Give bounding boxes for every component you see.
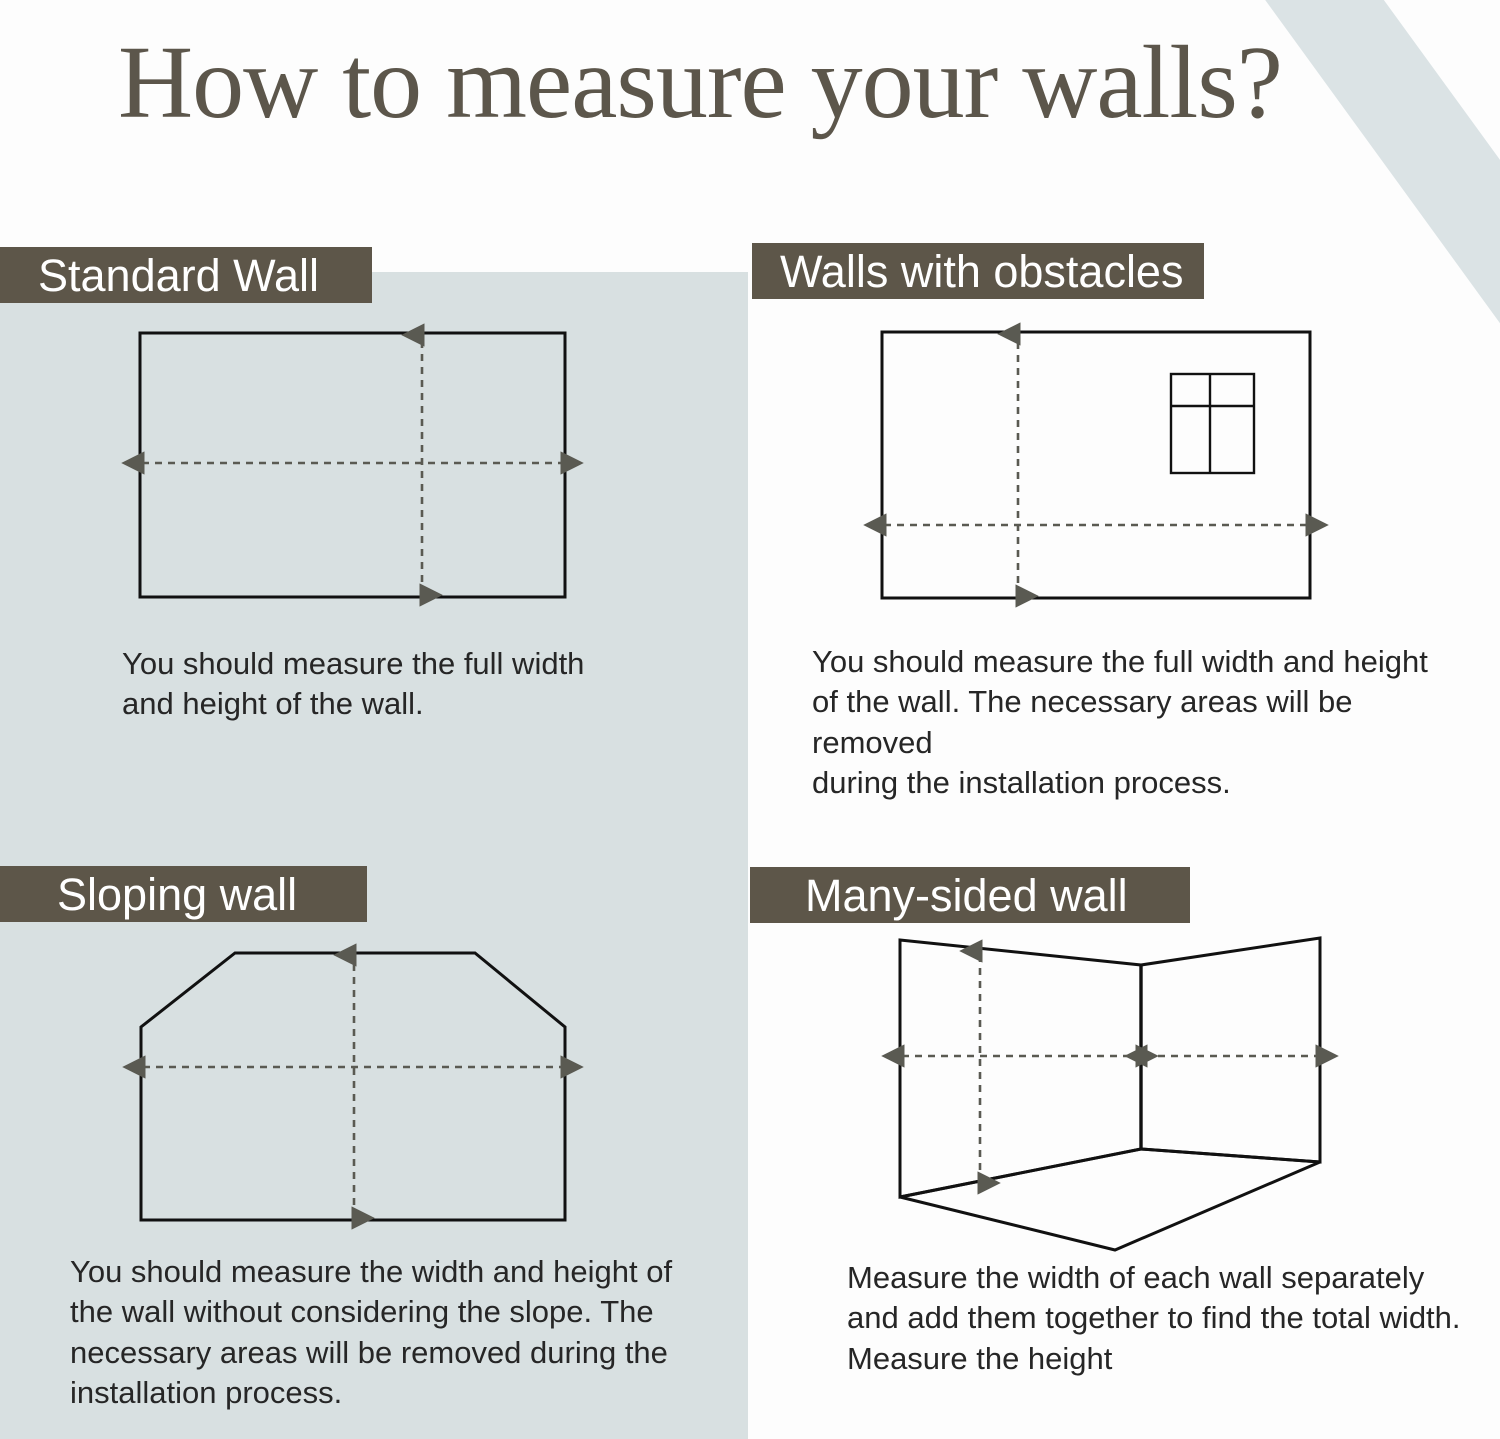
infographic-page: How to measure your walls? Standard Wall: [0, 0, 1500, 1439]
section-heading-standard-wall: Standard Wall: [0, 247, 372, 303]
section-heading-sloping-wall: Sloping wall: [0, 866, 367, 922]
right-wall-face: [1141, 938, 1320, 1162]
description-sloping-wall: You should measure the width and height …: [70, 1252, 690, 1413]
section-heading-label: Many-sided wall: [805, 873, 1128, 918]
window-obstacle-icon: [1171, 374, 1254, 473]
section-heading-many-sided-wall: Many-sided wall: [750, 867, 1190, 923]
section-heading-label: Standard Wall: [38, 253, 319, 298]
description-many-sided-wall: Measure the width of each wall separatel…: [847, 1258, 1467, 1379]
diagram-walls-with-obstacles: [870, 318, 1330, 610]
wall-outline: [882, 332, 1310, 598]
diagram-many-sided-wall: [880, 925, 1340, 1260]
section-heading-label: Sloping wall: [57, 872, 297, 917]
section-heading-walls-with-obstacles: Walls with obstacles: [752, 243, 1204, 299]
page-title: How to measure your walls?: [0, 26, 1400, 140]
diagram-standard-wall: [120, 315, 590, 615]
section-heading-label: Walls with obstacles: [780, 249, 1183, 294]
floor-face: [900, 1149, 1320, 1250]
left-wall-face: [900, 940, 1141, 1197]
description-walls-with-obstacles: You should measure the full width and he…: [812, 642, 1462, 803]
diagram-sloping-wall: [120, 935, 590, 1240]
description-standard-wall: You should measure the full width and he…: [122, 644, 682, 725]
wall-outline: [140, 333, 565, 597]
